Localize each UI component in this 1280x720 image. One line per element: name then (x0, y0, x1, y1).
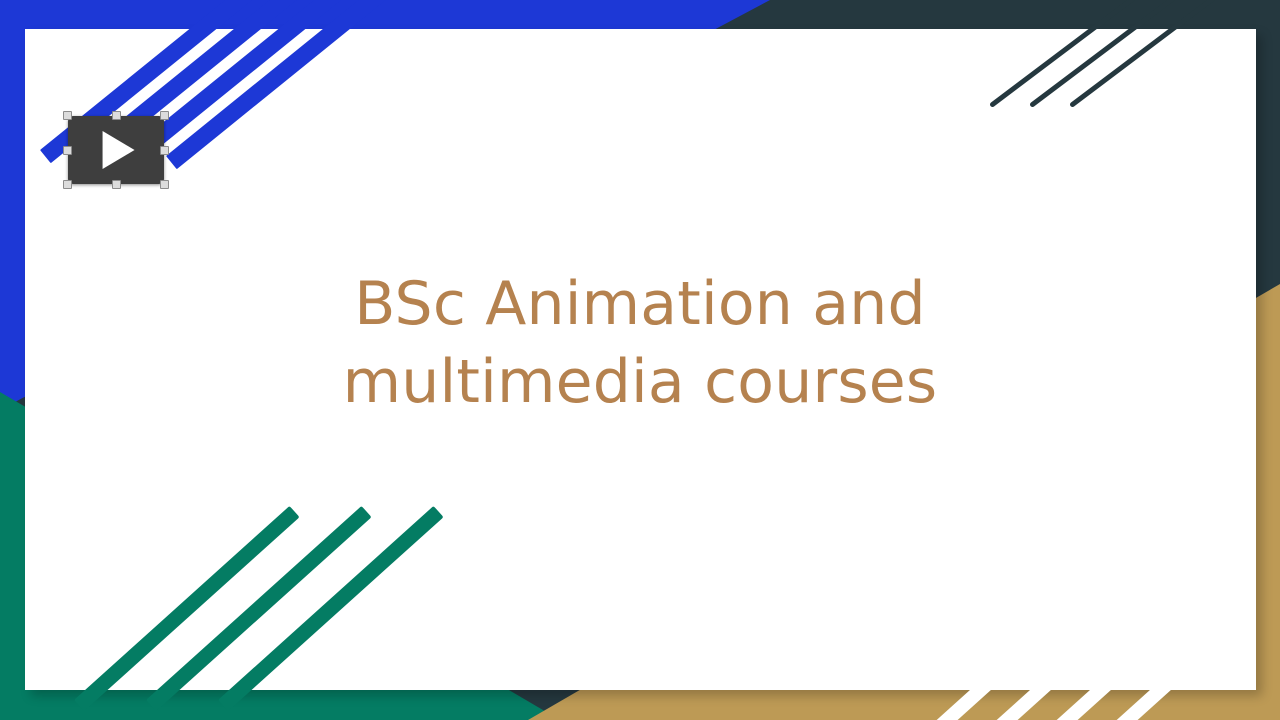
resize-handle-sw[interactable] (63, 180, 72, 189)
presentation-slide: BSc Animation and multimedia courses (0, 0, 1280, 720)
video-placeholder[interactable] (68, 116, 164, 184)
resize-handle-n[interactable] (112, 111, 121, 120)
resize-handle-nw[interactable] (63, 111, 72, 120)
resize-handle-ne[interactable] (160, 111, 169, 120)
gold-stripe (1110, 632, 1223, 720)
video-frame[interactable] (68, 116, 164, 184)
resize-handle-e[interactable] (160, 146, 169, 155)
gold-stripe (930, 632, 1043, 720)
resize-handle-se[interactable] (160, 180, 169, 189)
gold-stripe (990, 632, 1103, 720)
gold-stripe (1050, 632, 1163, 720)
play-icon[interactable] (103, 131, 135, 169)
slide-title-block[interactable]: BSc Animation and multimedia courses (160, 265, 1120, 421)
resize-handle-w[interactable] (63, 146, 72, 155)
slide-title[interactable]: BSc Animation and multimedia courses (160, 265, 1120, 421)
resize-handle-s[interactable] (112, 180, 121, 189)
